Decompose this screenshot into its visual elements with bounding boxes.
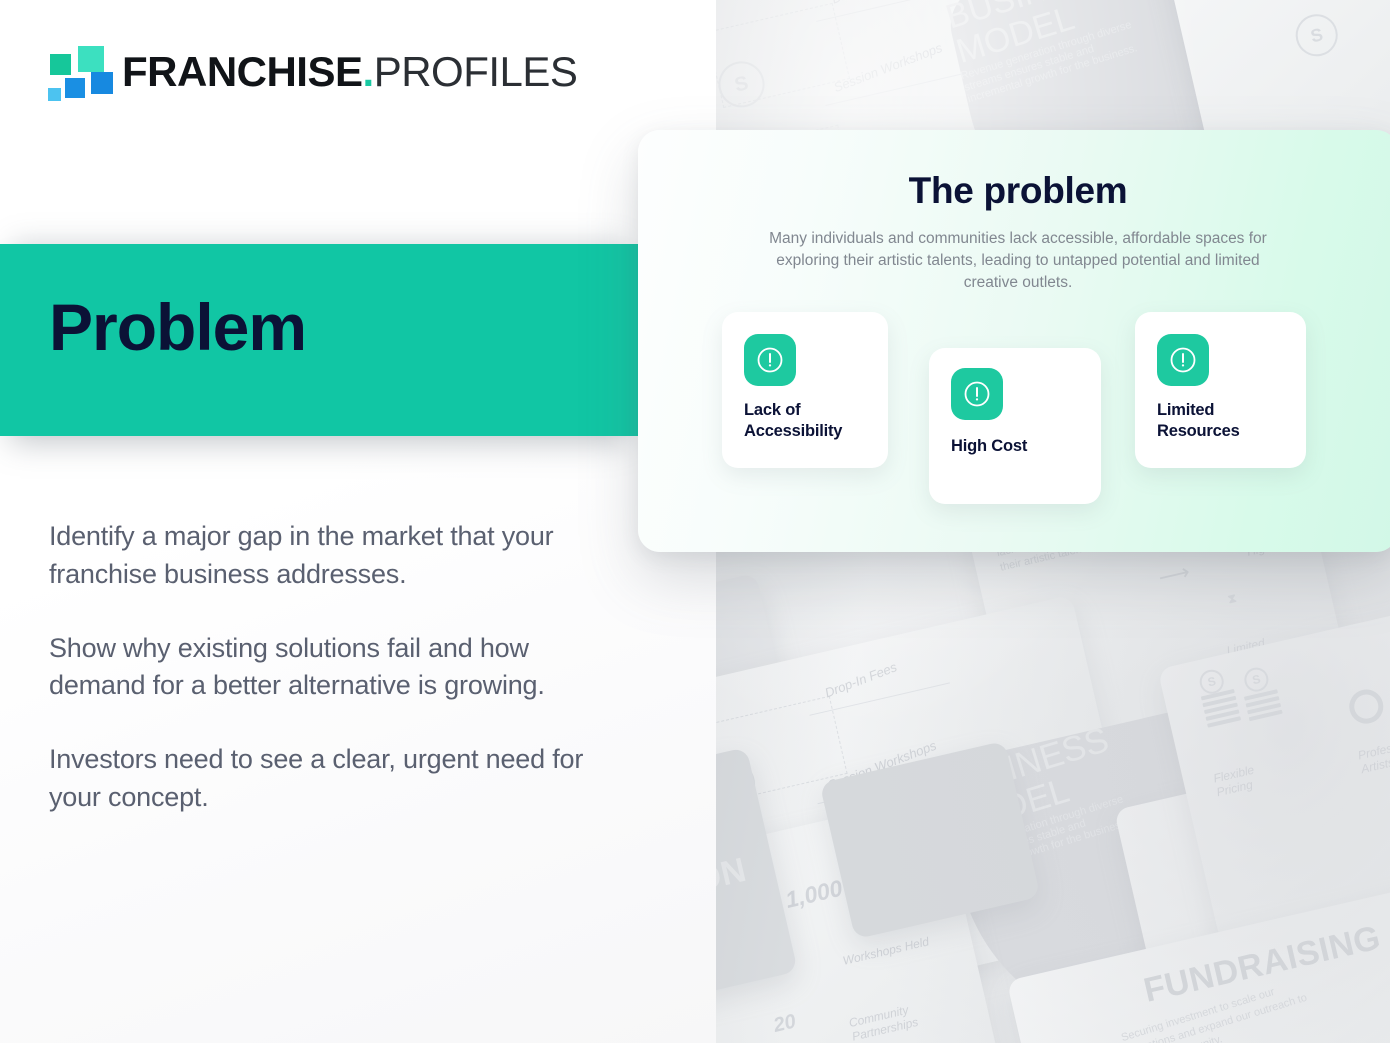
logo-square-blue-small: [65, 78, 85, 98]
body-paragraph: Investors need to see a clear, urgent ne…: [49, 741, 619, 817]
exclamation-circle-icon: [951, 368, 1003, 420]
collage-label: Drop-In Fees: [823, 659, 899, 700]
section-heading-band: Problem: [0, 244, 638, 436]
body-paragraph: Show why existing solutions fail and how…: [49, 630, 619, 706]
preview-card-subtitle: Many individuals and communities lack ac…: [758, 228, 1278, 294]
pixel-squares-logo-icon: [48, 44, 108, 100]
problem-item-card[interactable]: Lack of Accessibility: [722, 312, 888, 468]
brand-logo[interactable]: FRANCHISE.PROFILES: [48, 44, 577, 100]
collage-stat-value: 20: [771, 1010, 798, 1037]
exclamation-circle-icon: [1157, 334, 1209, 386]
problem-item-label: High Cost: [951, 436, 1089, 457]
collage-stat-label: Workshops Held: [841, 934, 930, 967]
left-content-pane: FRANCHISE.PROFILES Problem Identify a ma…: [0, 0, 716, 1043]
problem-preview-card: The problem Many individuals and communi…: [638, 130, 1390, 552]
brand-name-bold: FRANCHISE: [122, 48, 363, 95]
collage-label: Session Workshops: [832, 40, 945, 95]
collage-stat-label: Community Partnerships: [848, 1001, 923, 1043]
problem-item-card[interactable]: Limited Resources: [1135, 312, 1306, 468]
problem-item-label: Limited Resources: [1157, 400, 1294, 442]
collage-slide-title: ON: [715, 851, 750, 901]
logo-square-teal-light: [78, 46, 104, 72]
section-body-copy: Identify a major gap in the market that …: [49, 518, 619, 817]
collage-label: Professional Artists: [1357, 734, 1390, 776]
body-paragraph: Identify a major gap in the market that …: [49, 518, 619, 594]
brand-wordmark: FRANCHISE.PROFILES: [122, 51, 577, 93]
brand-name-dot: .: [363, 48, 374, 95]
problem-item-card[interactable]: High Cost: [929, 348, 1101, 504]
logo-square-teal-dark: [50, 54, 71, 75]
logo-square-cyan: [48, 88, 61, 101]
collage-label: Flexible Pricing: [1212, 759, 1273, 799]
page-title: Problem: [49, 294, 306, 360]
preview-card-title: The problem: [638, 170, 1390, 212]
brand-name-light: PROFILES: [374, 48, 578, 95]
collage-stat-value: 1,000: [783, 875, 845, 914]
problem-item-label: Lack of Accessibility: [744, 400, 876, 442]
exclamation-circle-icon: [744, 334, 796, 386]
logo-square-blue: [91, 72, 113, 94]
